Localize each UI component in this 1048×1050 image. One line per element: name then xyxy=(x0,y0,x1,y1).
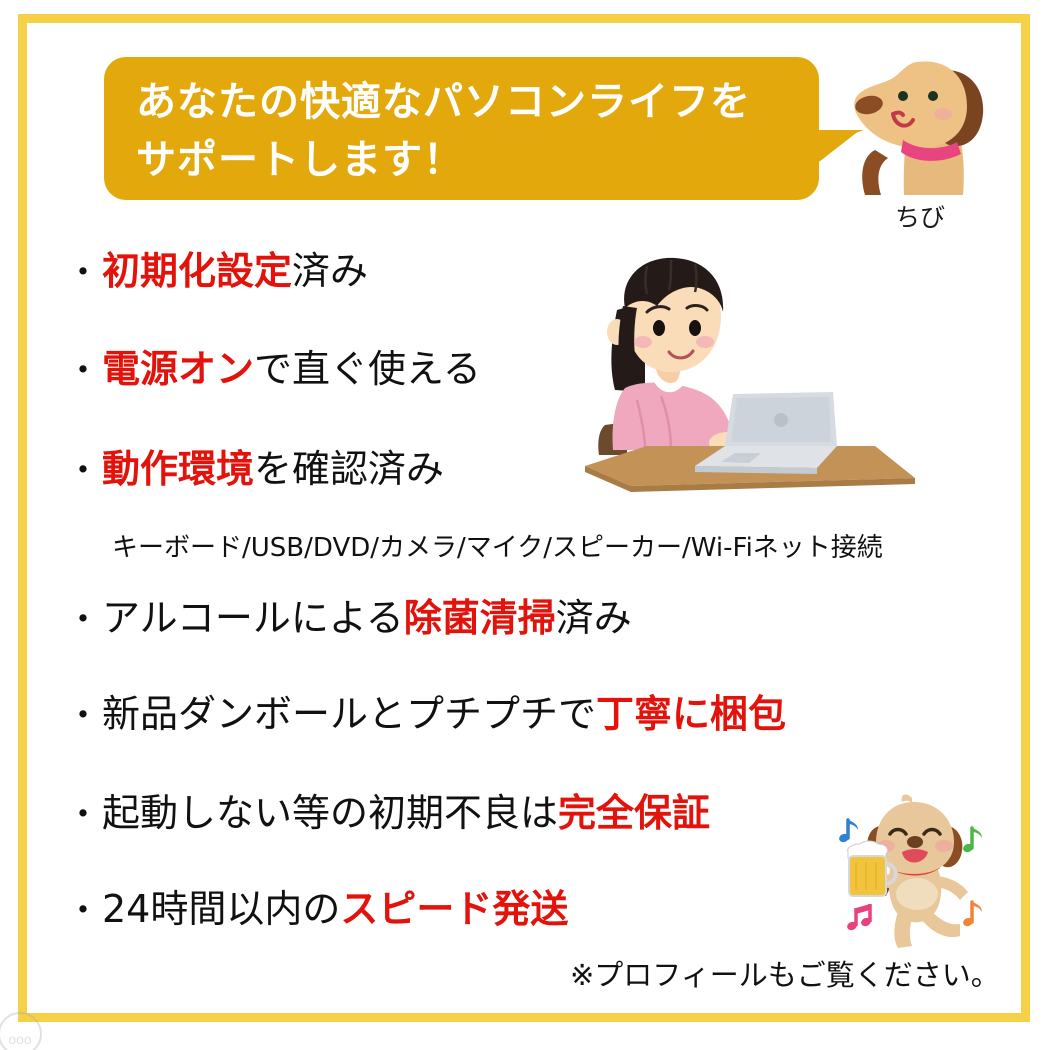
list-item-emphasis: 動作環境 xyxy=(102,447,254,491)
bullet-dot-icon: ・ xyxy=(66,600,102,640)
music-note-blue-icon xyxy=(838,820,858,844)
list-item-emphasis: 初期化設定 xyxy=(102,249,292,293)
bullet-dot-icon: ・ xyxy=(66,891,102,931)
list-item-emphasis: 丁寧に梱包 xyxy=(596,692,786,736)
list-item: ・初期化設定済み xyxy=(66,252,368,290)
list-item-text: 済み xyxy=(292,249,368,293)
list-item: ・起動しない等の初期不良は完全保証 xyxy=(66,794,710,832)
svg-text:ooo: ooo xyxy=(8,1031,32,1047)
list-item-emphasis: 電源オン xyxy=(102,347,254,391)
music-note-orange-icon xyxy=(962,902,982,928)
list-item: ・24時間以内のスピード発送 xyxy=(66,890,568,928)
list-item-emphasis: 完全保証 xyxy=(558,791,710,835)
list-item-text: 起動しない等の初期不良は xyxy=(102,791,558,835)
list-item: ・新品ダンボールとプチプチで丁寧に梱包 xyxy=(66,695,786,733)
woman-laptop-svg xyxy=(575,250,925,505)
music-note-pink-icon xyxy=(846,904,872,932)
list-item-text: アルコールによる xyxy=(102,596,404,640)
list-item-emphasis: 除菌清掃 xyxy=(404,596,556,640)
compatibility-subnote: キーボード/USB/DVD/カメラ/マイク/スピーカー/Wi-Fiネット接続 xyxy=(112,527,883,564)
list-item: ・電源オンで直ぐ使える xyxy=(66,350,481,388)
list-item: ・アルコールによる除菌清掃済み xyxy=(66,599,632,637)
dancing-dog-with-beer-illustration xyxy=(820,790,1020,960)
list-item-text: 新品ダンボールとプチプチで xyxy=(102,692,596,736)
woman-using-laptop-illustration xyxy=(575,250,925,505)
list-item-text: 済み xyxy=(556,596,632,640)
dog-head-icon xyxy=(845,52,995,197)
list-item-text: で直ぐ使える xyxy=(254,347,481,391)
dancing-dog-svg xyxy=(820,790,1020,960)
watermark-svg: ooo xyxy=(0,1004,54,1050)
bullet-dot-icon: ・ xyxy=(66,253,102,293)
speech-bubble-text: あなたの快適なパソコンライフを サポートします！ xyxy=(136,73,796,189)
speech-bubble: あなたの快適なパソコンライフを サポートします！ xyxy=(104,57,819,200)
bullet-dot-icon: ・ xyxy=(66,351,102,391)
list-item: ・動作環境を確認済み xyxy=(66,450,444,488)
mascot-name-label: ちび xyxy=(845,198,995,234)
music-note-green-icon xyxy=(962,828,982,854)
list-item-emphasis: スピード発送 xyxy=(340,887,568,931)
profile-note: ※プロフィールもご覧ください。 xyxy=(570,952,1000,994)
list-item-text: を確認済み xyxy=(254,447,444,491)
list-item-text: 24時間以内の xyxy=(102,887,340,931)
corner-watermark-icon: ooo xyxy=(0,1004,54,1050)
dog-head-svg xyxy=(845,52,995,197)
bullet-dot-icon: ・ xyxy=(66,696,102,736)
promo-banner: あなたの快適なパソコンライフを サポートします！ ちび xyxy=(0,0,1048,1050)
bullet-dot-icon: ・ xyxy=(66,795,102,835)
bullet-dot-icon: ・ xyxy=(66,451,102,491)
